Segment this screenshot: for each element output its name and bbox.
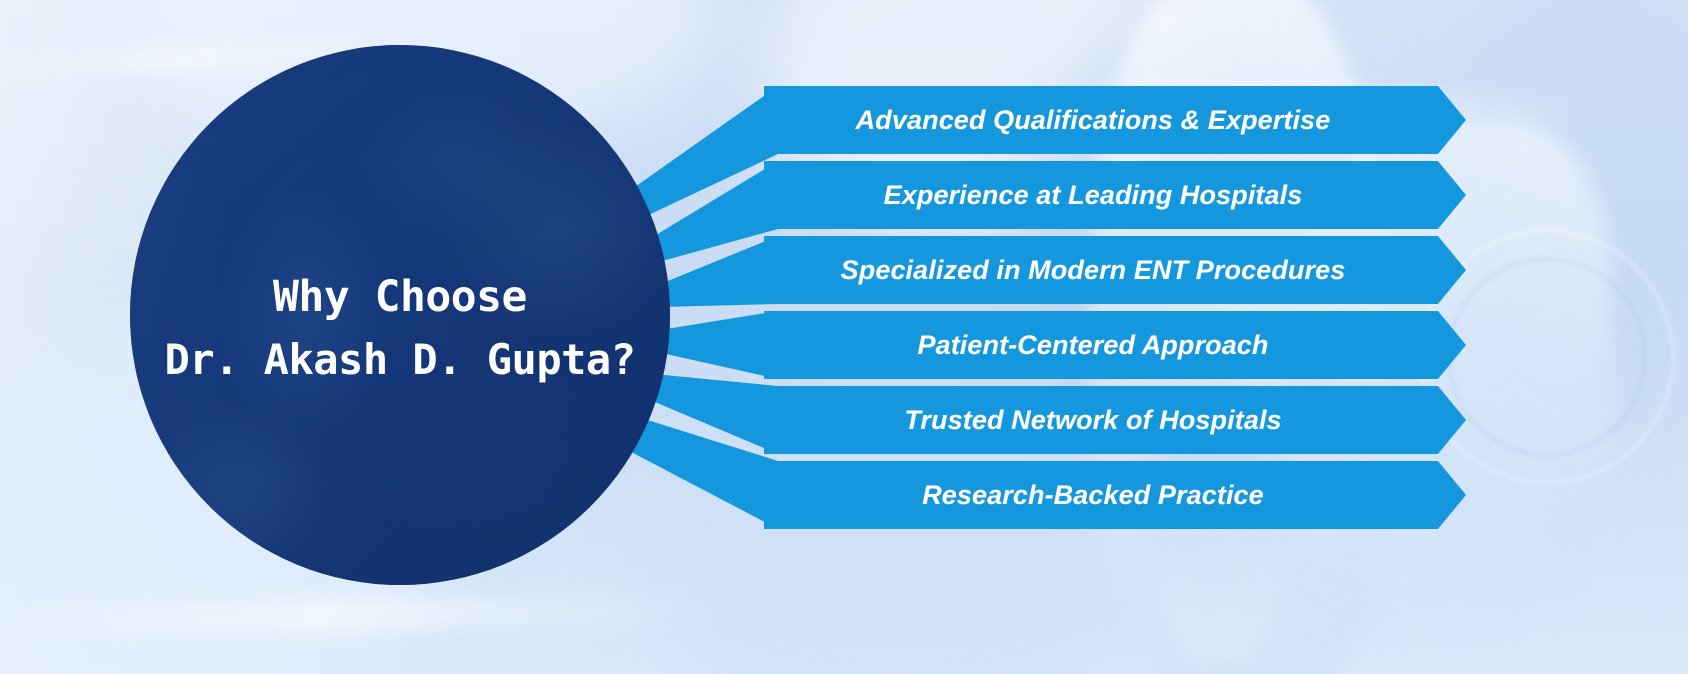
infographic-banner: Why Choose Dr. Akash D. Gupta? Advanced … bbox=[0, 0, 1688, 674]
ribbon-label: Experience at Leading Hospitals bbox=[884, 180, 1303, 211]
ribbon-label: Advanced Qualifications & Expertise bbox=[856, 105, 1331, 136]
ribbon-label: Trusted Network of Hospitals bbox=[904, 405, 1281, 436]
ribbon-item[interactable]: Trusted Network of Hospitals bbox=[764, 386, 1466, 454]
ribbon-item[interactable]: Specialized in Modern ENT Procedures bbox=[764, 236, 1466, 304]
ribbon-item[interactable]: Research-Backed Practice bbox=[764, 461, 1466, 529]
ribbon-label: Research-Backed Practice bbox=[922, 480, 1264, 511]
ribbon-list: Advanced Qualifications & Expertise Expe… bbox=[0, 0, 1688, 674]
ribbon-item[interactable]: Advanced Qualifications & Expertise bbox=[764, 86, 1466, 154]
ribbon-label: Specialized in Modern ENT Procedures bbox=[841, 255, 1346, 286]
ribbon-item[interactable]: Experience at Leading Hospitals bbox=[764, 161, 1466, 229]
ribbon-item[interactable]: Patient-Centered Approach bbox=[764, 311, 1466, 379]
ribbon-label: Patient-Centered Approach bbox=[917, 330, 1268, 361]
